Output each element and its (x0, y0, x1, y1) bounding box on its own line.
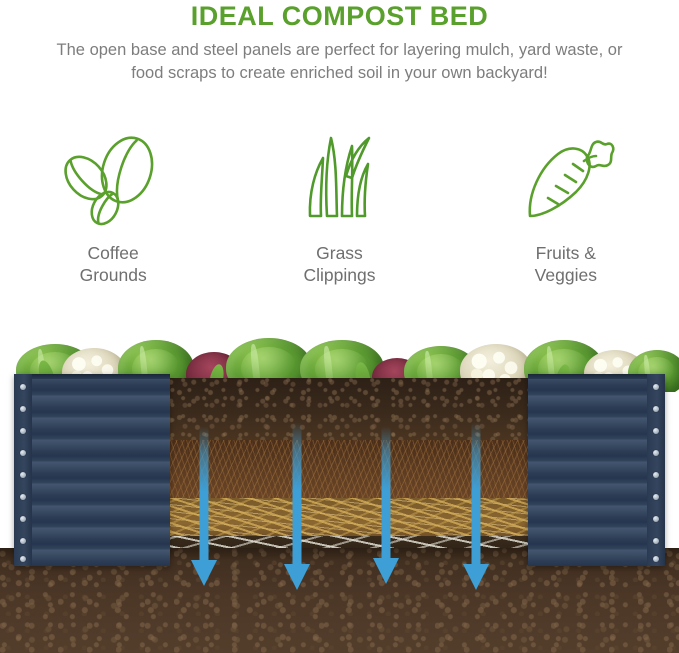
page-subtitle: The open base and steel panels are perfe… (53, 39, 627, 86)
header: IDEAL COMPOST BED The open base and stee… (0, 0, 679, 86)
page-title: IDEAL COMPOST BED (0, 0, 679, 33)
panel-top-cap (528, 374, 665, 379)
garden-bed-scene (0, 330, 679, 653)
product-infographic: IDEAL COMPOST BED The open base and stee… (0, 0, 679, 653)
panel-top-cap (14, 374, 170, 379)
feature-item-coffee-grounds: Coffee Grounds (13, 132, 213, 287)
steel-panel-left (14, 374, 170, 566)
corner-post-left (14, 374, 32, 566)
feature-list: Coffee Grounds Grass Clippings (0, 132, 679, 287)
steel-panel-right (528, 374, 665, 566)
feature-item-grass-clippings: Grass Clippings (239, 132, 439, 287)
grass-blades-icon (289, 132, 389, 228)
feature-label: Coffee Grounds (80, 242, 147, 287)
carrot-icon (514, 132, 618, 228)
corner-post-right (647, 374, 665, 566)
feature-label: Fruits & Veggies (535, 242, 597, 287)
feature-label: Grass Clippings (303, 242, 375, 287)
coffee-beans-icon (58, 132, 168, 228)
feature-item-fruits-veggies: Fruits & Veggies (466, 132, 666, 287)
